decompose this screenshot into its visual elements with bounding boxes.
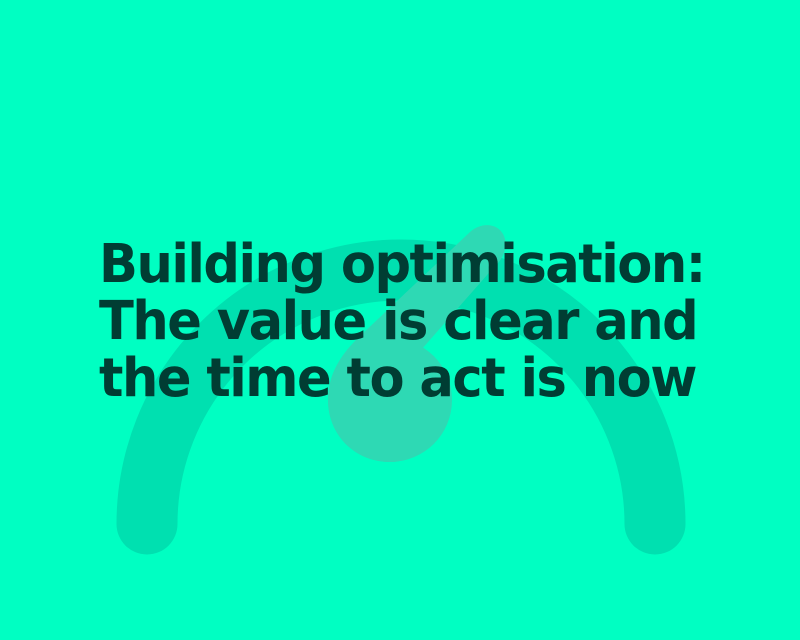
promo-card: Building optimisation: The value is clea… xyxy=(0,0,800,640)
page-title: Building optimisation: The value is clea… xyxy=(0,0,800,640)
headline-line-2: The value is clear and xyxy=(99,292,697,349)
headline-line-1: Building optimisation: xyxy=(99,235,705,292)
headline-line-3: the time to act is now xyxy=(99,349,696,406)
